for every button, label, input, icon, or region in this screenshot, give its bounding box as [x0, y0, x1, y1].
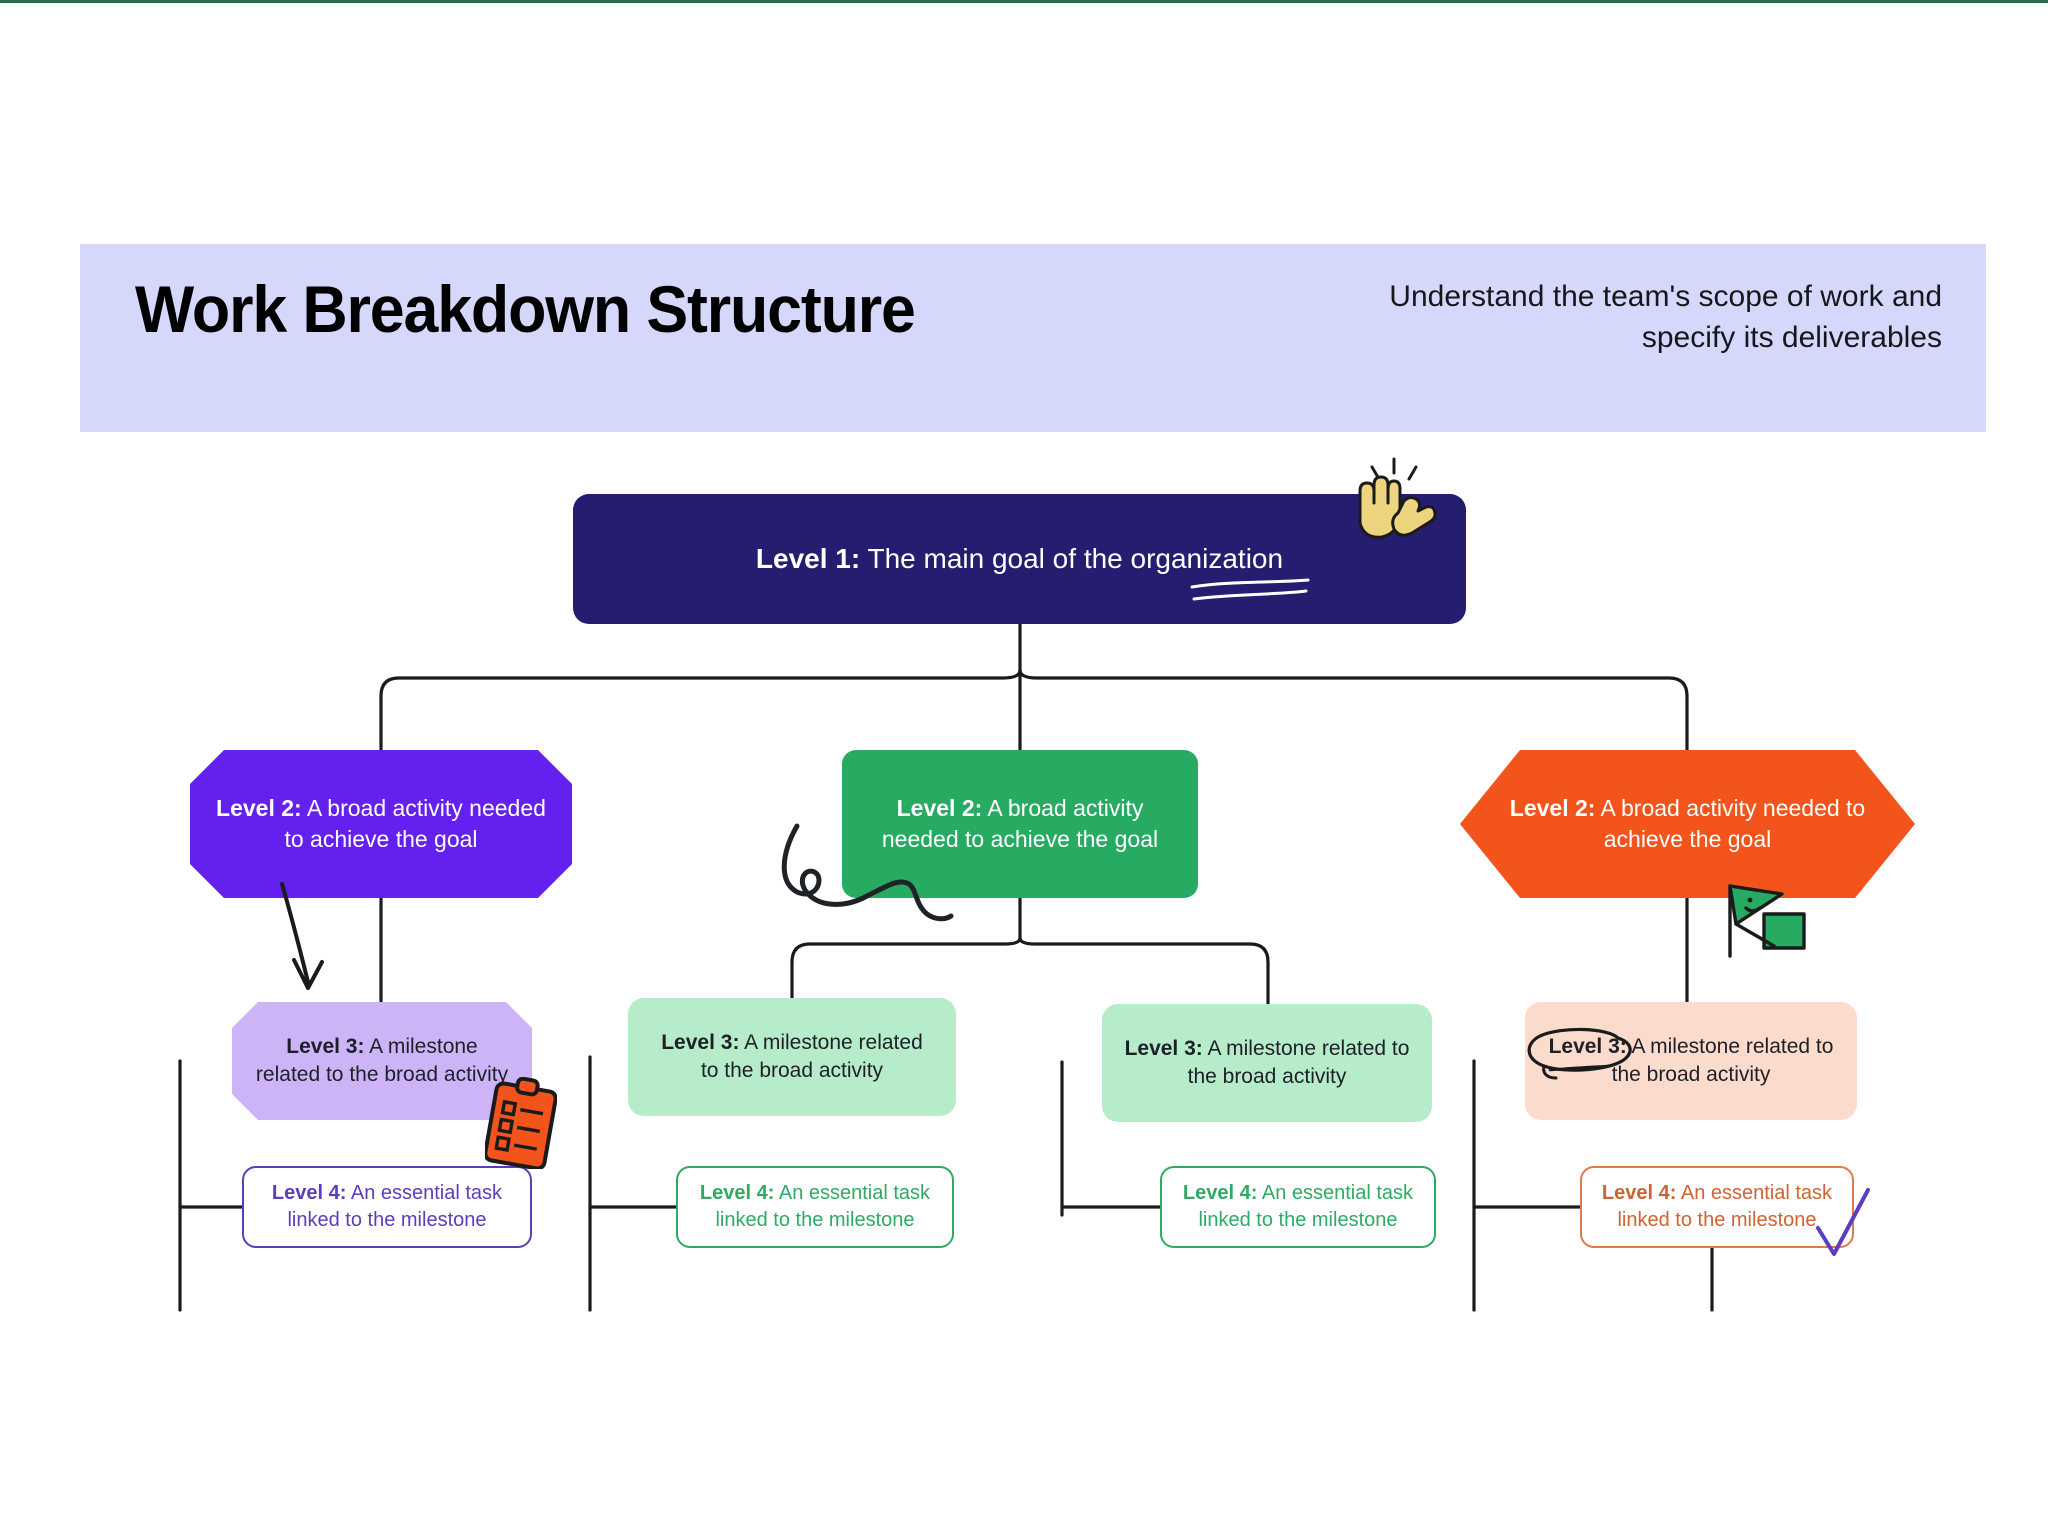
- node-level1-text: Level 1: The main goal of the organizati…: [734, 540, 1305, 578]
- clipboard-sticker: [485, 1077, 557, 1169]
- node-level4-green-1-text: Level 4: An essential task linked to the…: [678, 1180, 952, 1234]
- node-level3-purple-label: Level 3:: [286, 1035, 364, 1058]
- top-rule-divider: [0, 0, 2048, 3]
- node-level2-purple-label: Level 2:: [216, 795, 302, 821]
- squiggle-doodle: [775, 820, 955, 930]
- flag-sticker: [1722, 880, 1818, 960]
- node-level2-green-label: Level 2:: [897, 795, 983, 821]
- node-level3-peach-body: A milestone related to the broad activit…: [1612, 1035, 1834, 1086]
- node-level3-green-2[interactable]: Level 3: A milestone related to the broa…: [1102, 1004, 1432, 1122]
- node-level2-orange[interactable]: Level 2: A broad activity needed to achi…: [1460, 750, 1915, 898]
- header-banner: Work Breakdown Structure Understand the …: [80, 244, 1986, 432]
- node-level3-green-2-label: Level 3:: [1125, 1037, 1203, 1060]
- slide-canvas: Work Breakdown Structure Understand the …: [0, 0, 2048, 1537]
- node-level2-orange-body: A broad activity needed to achieve the g…: [1601, 795, 1866, 852]
- node-level4-purple[interactable]: Level 4: An essential task linked to the…: [242, 1166, 532, 1248]
- node-level2-orange-text: Level 2: A broad activity needed to achi…: [1460, 793, 1915, 855]
- node-level4-purple-text: Level 4: An essential task linked to the…: [244, 1180, 530, 1234]
- node-level4-purple-label: Level 4:: [272, 1182, 346, 1204]
- node-level1[interactable]: Level 1: The main goal of the organizati…: [573, 494, 1466, 624]
- node-level4-green-2-text: Level 4: An essential task linked to the…: [1162, 1180, 1434, 1234]
- node-level2-purple-text: Level 2: A broad activity needed to achi…: [190, 793, 572, 855]
- node-level4-green-1-label: Level 4:: [700, 1182, 774, 1204]
- checkmark-doodle: [1812, 1186, 1874, 1264]
- subtitle-line-1: Understand the team's scope of work and: [1242, 276, 1942, 317]
- node-level2-purple-body: A broad activity needed to achieve the g…: [284, 795, 545, 852]
- node-level3-green-1-label: Level 3:: [661, 1031, 739, 1054]
- node-level2-orange-label: Level 2:: [1510, 795, 1596, 821]
- page-subtitle: Understand the team's scope of work and …: [1242, 276, 1942, 359]
- page-title: Work Breakdown Structure: [135, 272, 915, 348]
- node-level3-green-1-text: Level 3: A milestone related to the broa…: [628, 1029, 956, 1085]
- node-level1-body: The main goal of the organization: [867, 543, 1283, 574]
- node-level4-green-1[interactable]: Level 4: An essential task linked to the…: [676, 1166, 954, 1248]
- node-level4-green-2[interactable]: Level 4: An essential task linked to the…: [1160, 1166, 1436, 1248]
- node-level3-green-1[interactable]: Level 3: A milestone related to the broa…: [628, 998, 956, 1116]
- node-level2-purple[interactable]: Level 2: A broad activity needed to achi…: [190, 750, 572, 898]
- clapping-hands-sticker: [1342, 455, 1446, 559]
- node-level4-orange-label: Level 4:: [1602, 1182, 1676, 1204]
- node-level3-green-2-body: A milestone related to the broad activit…: [1188, 1037, 1410, 1088]
- subtitle-line-2: specify its deliverables: [1242, 317, 1942, 358]
- ellipse-doodle: [1522, 1024, 1642, 1084]
- node-level4-green-2-label: Level 4:: [1183, 1182, 1257, 1204]
- node-level3-green-2-text: Level 3: A milestone related to the broa…: [1102, 1035, 1432, 1091]
- node-level1-label: Level 1:: [756, 543, 860, 574]
